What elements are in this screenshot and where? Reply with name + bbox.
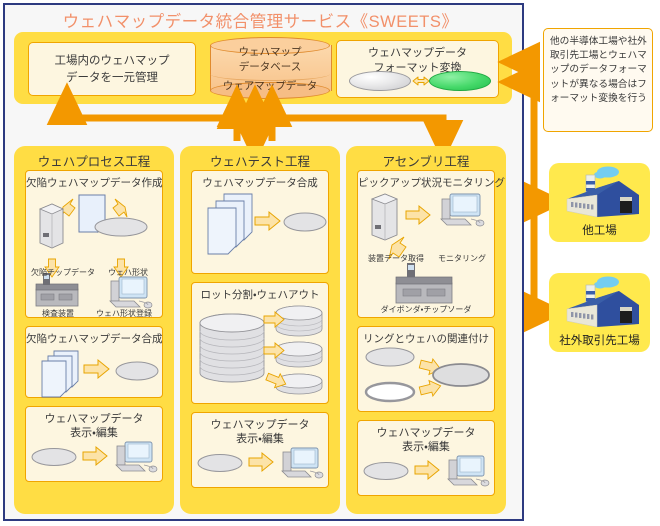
- gray-ellipse-icon: [349, 71, 411, 91]
- box-map-merge: ウェハマップデータ合成: [191, 170, 329, 274]
- server-icon: [372, 194, 397, 240]
- box-lot-split: ロット分割・ウェハアウト: [191, 282, 329, 404]
- document-stack-icon: [42, 351, 78, 397]
- box-map-display-edit-3: ウェハマップデータ 表示・編集: [357, 420, 495, 496]
- box-map-display-edit-1: ウェハマップデータ 表示・編集: [25, 406, 163, 482]
- box-2-1-title: ウェハマップデータ合成: [192, 176, 328, 190]
- box-2-2-title: ロット分割・ウェハアウト: [192, 288, 328, 302]
- label-die-bonder: ダイボンダ・チップソーダ: [358, 304, 494, 315]
- note-text: 他の半導体工場や社外取引先工場とウェハマップのデータフォーマットが異なる場合はフ…: [550, 35, 648, 106]
- double-arrow-icon: [413, 72, 429, 90]
- pc-icon: [441, 194, 484, 226]
- column-3-title: アセンブリ工程: [346, 151, 506, 170]
- box-ring-wafer-link: リングとウェハの関連付け: [357, 326, 495, 412]
- factory-other: 他工場: [549, 163, 650, 242]
- factory-2-label: 社外取引先工場: [549, 332, 650, 348]
- box-3-3-title-2: 表示・編集: [358, 440, 494, 454]
- pc-icon: [110, 277, 152, 308]
- wafer-ellipse-icon: [116, 362, 158, 380]
- label-wafer-shape: ウェハ形状: [96, 267, 160, 278]
- arrow-right-icon: [415, 461, 439, 479]
- document-stack-icon: [208, 194, 252, 254]
- factory-icon: [559, 275, 641, 333]
- arrow-right-icon: [249, 453, 273, 471]
- column-assembly: アセンブリ工程 ピックアップ状況モニタリング: [346, 146, 506, 514]
- box-defect-map-merge: 欠陥ウェハマップデータ合成: [25, 326, 163, 398]
- box-pickup-monitoring: ピックアップ状況モニタリング: [357, 170, 495, 318]
- column-wafer-test: ウェハテスト工程 ウェハマップデータ合成 ロット分割・ウェハアウト: [180, 146, 340, 514]
- arrow-right-icon: [84, 360, 109, 378]
- box-1-1-title: 欠陥ウェハマップデータ作成: [26, 176, 162, 190]
- format-line-1: ウェハマップデータ: [337, 46, 498, 61]
- arrow-right-icon: [406, 206, 430, 224]
- box-3-3-title-1: ウェハマップデータ: [358, 426, 494, 440]
- factory-partner: 社外取引先工場: [549, 273, 650, 352]
- arrow-right-icon: [255, 212, 280, 230]
- pc-icon: [448, 456, 489, 486]
- wafer-stack-small-icon: [276, 342, 322, 367]
- pc-icon: [116, 442, 157, 472]
- ring-icon: [366, 383, 414, 401]
- box-1-3-title-1: ウェハマップデータ: [26, 412, 162, 426]
- box-1-2-title: 欠陥ウェハマップデータ合成: [26, 332, 162, 346]
- wafer-map-database: ウェハマップ データベース ウェアマップデータ: [210, 37, 330, 99]
- unified-line-1: 工場内のウェハマップ: [29, 53, 195, 70]
- database-line-2: データベース: [210, 59, 330, 74]
- green-ellipse-icon: [429, 71, 491, 91]
- wafer-ellipse-icon: [95, 218, 147, 236]
- wafer-ellipse-icon: [364, 463, 408, 480]
- factory-icon: [559, 165, 641, 223]
- column-wafer-process: ウェハプロセス工程 欠陥ウェハマップデータ作成: [14, 146, 174, 514]
- page-title: ウェハマップデータ統合管理サービス《SWEETS》: [3, 8, 518, 32]
- wafer-stack-large-icon: [200, 314, 264, 382]
- format-conversion-panel: ウェハマップデータ フォーマット変換: [336, 40, 499, 98]
- box-3-2-title: リングとウェハの関連付け: [358, 332, 494, 346]
- diagram-root: ウェハマップデータ統合管理サービス《SWEETS》 工場内のウェハマップ データ…: [0, 0, 660, 526]
- column-1-title: ウェハプロセス工程: [14, 151, 174, 170]
- database-line-1: ウェハマップ: [210, 44, 330, 59]
- database-line-3: ウェアマップデータ: [210, 78, 330, 93]
- service-top-band: 工場内のウェハマップ データを一元管理 ウェハマップ データベース ウェアマップ…: [14, 32, 512, 104]
- unified-line-2: データを一元管理: [29, 70, 195, 87]
- unified-management-text: 工場内のウェハマップ データを一元管理: [29, 53, 195, 87]
- box-map-display-edit-2: ウェハマップデータ 表示・編集: [191, 412, 329, 488]
- box-3-1-title: ピックアップ状況モニタリング: [358, 176, 494, 190]
- box-2-3-title-1: ウェハマップデータ: [192, 418, 328, 432]
- die-bonder-icon: [396, 263, 452, 303]
- server-icon: [40, 204, 63, 248]
- pc-icon: [282, 448, 323, 478]
- wafer-ellipse-icon: [32, 449, 76, 466]
- label-monitoring: モニタリング: [432, 253, 492, 264]
- wafer-ellipse-icon: [198, 455, 242, 472]
- wafer-ellipse-icon: [366, 348, 414, 366]
- box-2-3-title-2: 表示・編集: [192, 432, 328, 446]
- label-wafer-shape-register: ウェハ形状登録: [88, 308, 160, 319]
- format-conversion-note: 他の半導体工場や社外取引先工場とウェハマップのデータフォーマットが異なる場合はフ…: [543, 28, 653, 132]
- box-defect-map-create: 欠陥ウェハマップデータ作成: [25, 170, 163, 318]
- factory-1-label: 他工場: [549, 222, 650, 238]
- label-inspection-machine: 検査装置: [28, 308, 88, 319]
- column-2-title: ウェハテスト工程: [180, 151, 340, 170]
- wafer-ellipse-icon: [284, 213, 326, 231]
- label-defect-chip-data: 欠陥チップデータ: [28, 267, 98, 278]
- box-1-3-title-2: 表示・編集: [26, 426, 162, 440]
- unified-management-panel: 工場内のウェハマップ データを一元管理: [28, 42, 196, 96]
- label-equipment-data: 装置データ取得: [358, 253, 434, 264]
- arrow-right-icon: [83, 447, 107, 465]
- wafer-ellipse-icon: [433, 364, 489, 386]
